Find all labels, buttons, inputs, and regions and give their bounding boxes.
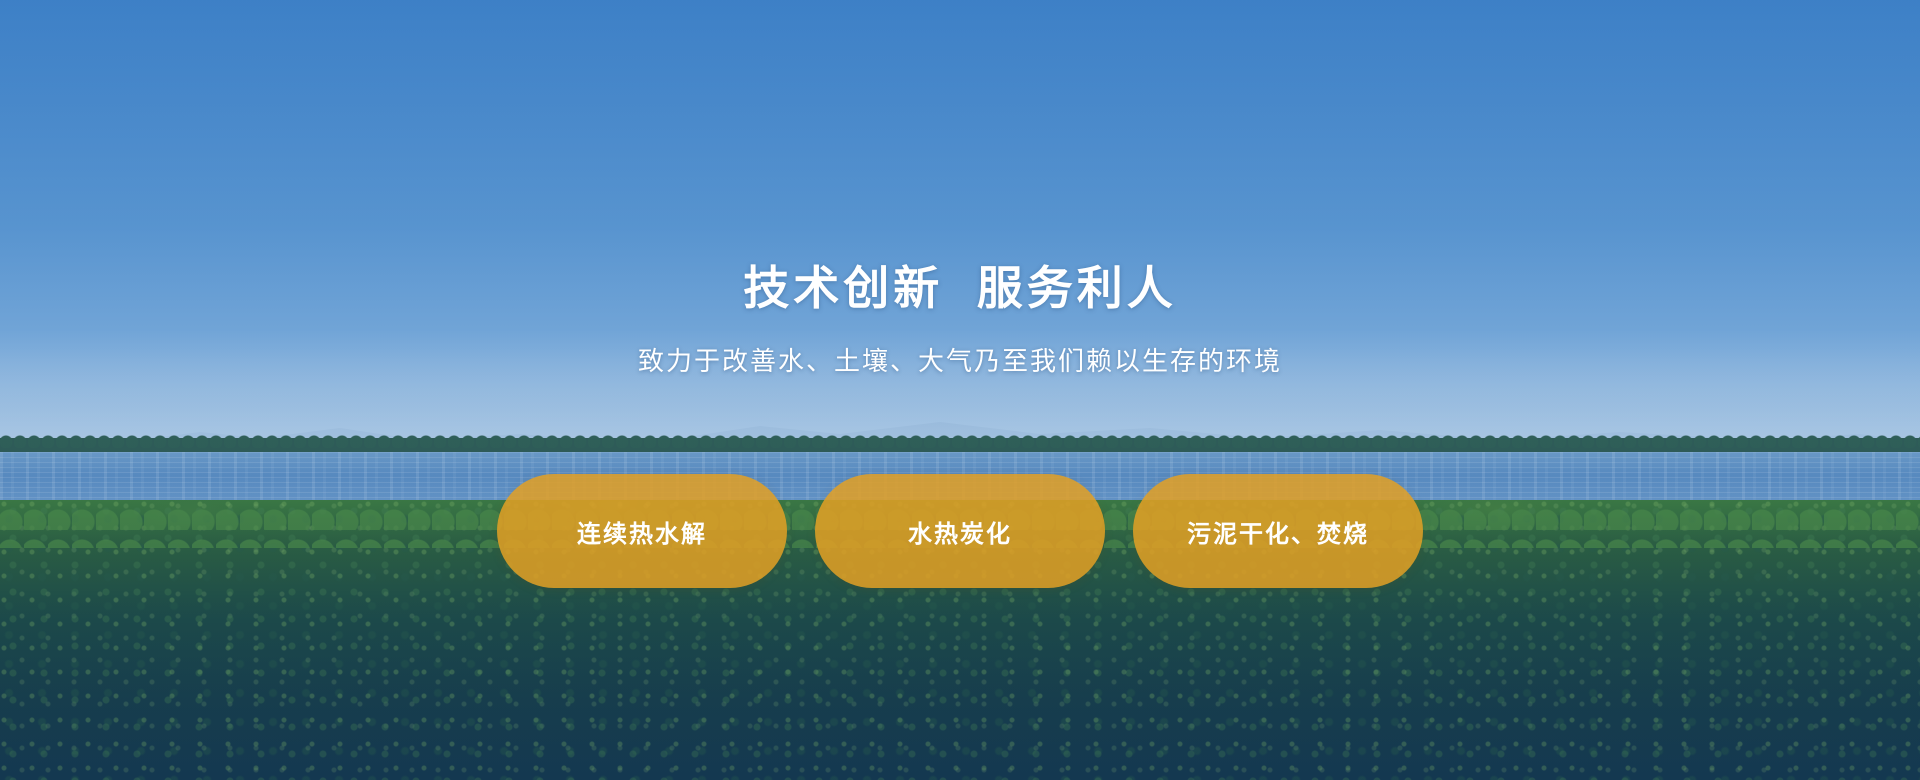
hero-banner: 技术创新 服务利人 致力于改善水、土壤、大气乃至我们赖以生存的环境 连续热水解 … bbox=[0, 0, 1920, 780]
service-button-continuous-thermal-hydrolysis[interactable]: 连续热水解 bbox=[497, 474, 787, 588]
service-button-sludge-drying-incineration[interactable]: 污泥干化、焚烧 bbox=[1133, 474, 1423, 588]
page-subtitle: 致力于改善水、土壤、大气乃至我们赖以生存的环境 bbox=[0, 345, 1920, 379]
service-button-row: 连续热水解 水热炭化 污泥干化、焚烧 bbox=[0, 474, 1920, 588]
hero-content: 技术创新 服务利人 致力于改善水、土壤、大气乃至我们赖以生存的环境 连续热水解 … bbox=[0, 0, 1920, 780]
service-button-hydrothermal-carbonization[interactable]: 水热炭化 bbox=[815, 474, 1105, 588]
page-title: 技术创新 服务利人 bbox=[0, 262, 1920, 315]
